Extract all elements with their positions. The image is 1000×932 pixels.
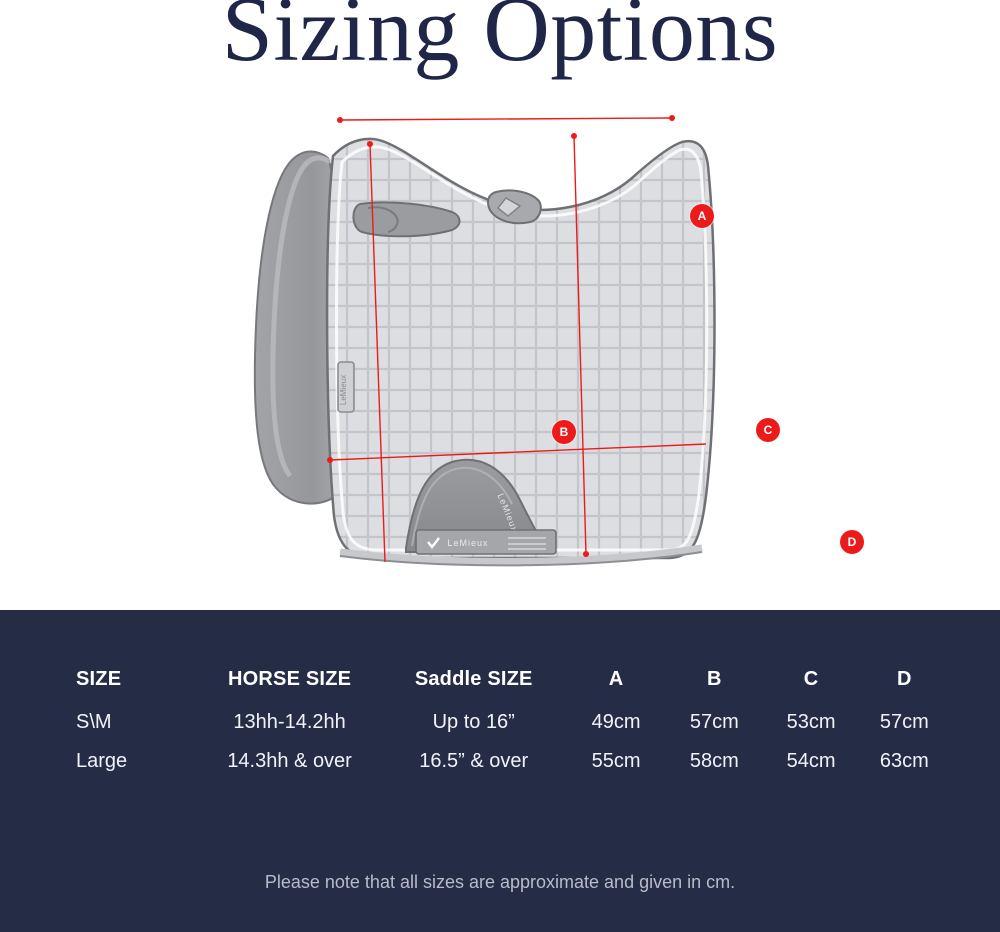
sizing-disclaimer: Please note that all sizes are approxima… bbox=[0, 872, 1000, 893]
column-header-c: C bbox=[763, 668, 858, 691]
column-header-b: B bbox=[665, 668, 763, 691]
sizing-table: SIZE HORSE SIZE Saddle SIZE A B C D S\M … bbox=[60, 668, 950, 789]
table-header-row: SIZE HORSE SIZE Saddle SIZE A B C D bbox=[60, 668, 950, 691]
cell-size: Large bbox=[60, 750, 199, 773]
sizing-table-panel: SIZE HORSE SIZE Saddle SIZE A B C D S\M … bbox=[0, 610, 1000, 932]
pad-brand-tab: LeMieux bbox=[338, 362, 354, 412]
saddle-pad-diagram: LeMieux LeMieux LeMieux bbox=[200, 96, 840, 596]
column-header-d: D bbox=[859, 668, 950, 691]
page-title: Sizing Options bbox=[0, 0, 1000, 84]
cell-a: 55cm bbox=[567, 750, 665, 773]
cell-saddle-size: 16.5” & over bbox=[380, 750, 567, 773]
measurement-marker-b: B bbox=[552, 420, 576, 444]
cell-b: 58cm bbox=[665, 750, 763, 773]
cell-size: S\M bbox=[60, 711, 199, 734]
pad-care-label: LeMieux bbox=[416, 530, 556, 554]
cell-d: 57cm bbox=[859, 711, 950, 734]
cell-c: 53cm bbox=[763, 711, 858, 734]
sizing-options-page: Sizing Options bbox=[0, 0, 1000, 932]
cell-horse-size: 14.3hh & over bbox=[199, 750, 381, 773]
column-header-horse-size: HORSE SIZE bbox=[199, 668, 381, 691]
cell-d: 63cm bbox=[859, 750, 950, 773]
cell-b: 57cm bbox=[665, 711, 763, 734]
column-header-size: SIZE bbox=[60, 668, 199, 691]
svg-text:LeMieux: LeMieux bbox=[339, 375, 348, 405]
table-row: S\M 13hh-14.2hh Up to 16” 49cm 57cm 53cm… bbox=[60, 711, 950, 734]
column-header-a: A bbox=[567, 668, 665, 691]
measurement-marker-c: C bbox=[756, 418, 780, 442]
table-row: Large 14.3hh & over 16.5” & over 55cm 58… bbox=[60, 750, 950, 773]
column-header-saddle-size: Saddle SIZE bbox=[380, 668, 567, 691]
cell-horse-size: 13hh-14.2hh bbox=[199, 711, 381, 734]
measurement-marker-d: D bbox=[840, 530, 864, 554]
measurement-line-a bbox=[337, 115, 675, 123]
svg-text:LeMieux: LeMieux bbox=[447, 538, 488, 548]
cell-saddle-size: Up to 16” bbox=[380, 711, 567, 734]
measurement-marker-a: A bbox=[690, 204, 714, 228]
cell-a: 49cm bbox=[567, 711, 665, 734]
cell-c: 54cm bbox=[763, 750, 858, 773]
diagram-section: Sizing Options bbox=[0, 0, 1000, 610]
